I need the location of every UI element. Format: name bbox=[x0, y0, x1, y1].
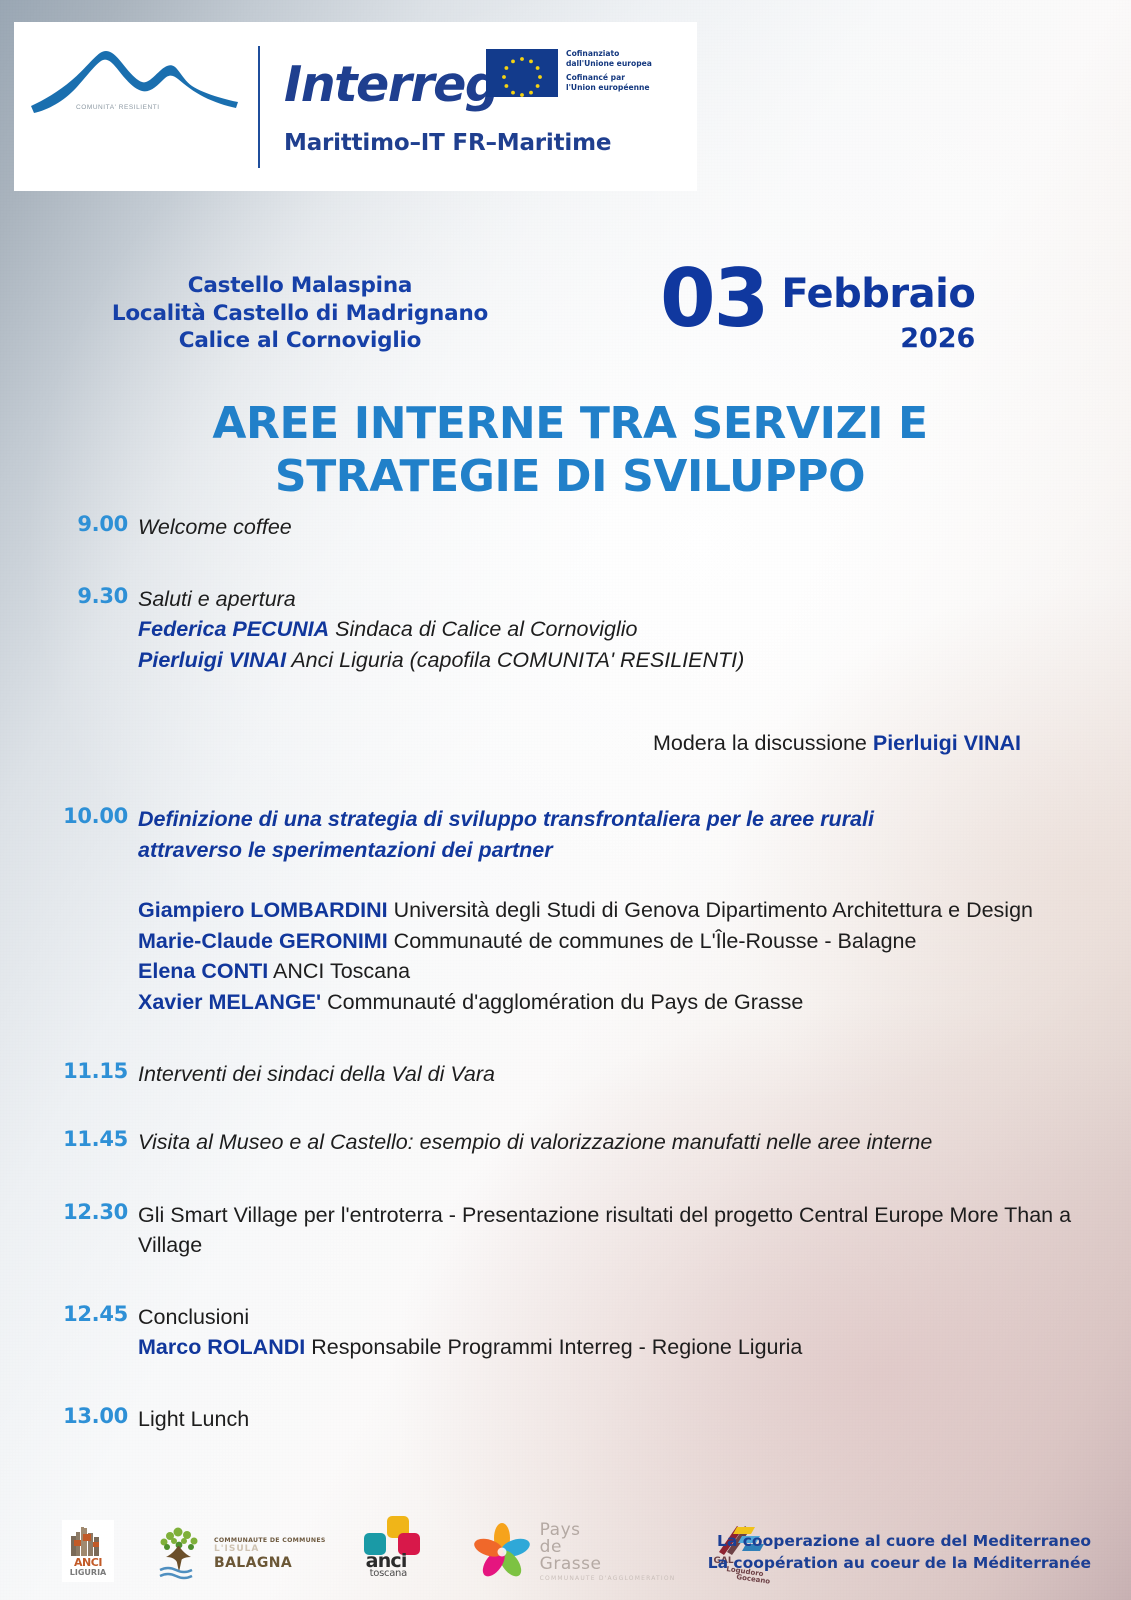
speaker-name: Giampiero LOMBARDINI bbox=[138, 898, 388, 922]
programme-logo-bar: COMUNITA' RESILIENTI Interreg bbox=[14, 22, 697, 191]
eu-cofunding-text: Cofinanziato dall'Unione europea Cofinan… bbox=[566, 49, 652, 93]
interreg-wordmark: Interreg bbox=[284, 56, 498, 113]
agenda-time: 10.00 bbox=[0, 804, 138, 828]
speaker-name: Elena CONTI bbox=[138, 959, 268, 983]
tagline-it: La cooperazione al cuore del Mediterrane… bbox=[708, 1530, 1091, 1552]
agenda-speaker: Marie-Claude GERONIMI Communauté de comm… bbox=[138, 926, 1073, 957]
venue-line-1: Castello Malaspina bbox=[0, 272, 600, 300]
speaker-role: Sindaca di Calice al Cornoviglio bbox=[335, 617, 637, 641]
agenda-row: 9.30 Saluti e apertura Federica PECUNIA … bbox=[0, 584, 1131, 675]
agenda-text: Saluti e apertura bbox=[138, 584, 1073, 614]
agenda-time: 13.00 bbox=[0, 1404, 138, 1428]
agenda-time: 11.15 bbox=[0, 1059, 138, 1083]
anci-liguria-label-sub: LIGURIA bbox=[62, 1568, 114, 1577]
agenda-row: 13.00 Light Lunch bbox=[0, 1404, 1131, 1434]
balagna-label-2: L'ISULA bbox=[214, 1545, 326, 1554]
grasse-label-4: COMMUNAUTE D'AGGLOMERATION bbox=[540, 1576, 676, 1582]
venue-block: Castello Malaspina Località Castello di … bbox=[0, 272, 600, 355]
anci-liguria-logo: ANCI LIGURIA bbox=[62, 1520, 114, 1582]
agenda-time: 12.30 bbox=[0, 1200, 138, 1224]
speaker-role: Responsabile Programmi Interreg - Region… bbox=[311, 1335, 802, 1359]
agenda-text: Light Lunch bbox=[138, 1404, 1131, 1434]
date-month: Febbraio bbox=[781, 274, 975, 314]
agenda-speaker: Marco ROLANDI Responsabile Programmi Int… bbox=[138, 1332, 1073, 1363]
agenda-text: Conclusioni bbox=[138, 1302, 1073, 1332]
agenda-row: 10.00 Definizione di una strategia di sv… bbox=[0, 804, 1131, 1017]
flower-icon bbox=[472, 1522, 532, 1582]
comunita-resilienti-caption: COMUNITA' RESILIENTI bbox=[76, 104, 160, 111]
anci-toscana-logo: anci toscana bbox=[362, 1516, 436, 1582]
date-year: 2026 bbox=[781, 323, 975, 354]
eu-text-it-2: dall'Unione europea bbox=[566, 59, 652, 69]
agenda-headline-line-1: Definizione di una strategia di sviluppo… bbox=[138, 804, 1073, 835]
agenda-list: 9.00 Welcome coffee 9.30 Saluti e apertu… bbox=[0, 512, 1131, 1434]
programme-subtitle: Marittimo–IT FR–Maritime bbox=[284, 130, 611, 156]
agenda-row: 9.00 Welcome coffee bbox=[0, 512, 1131, 542]
speaker-name: Marie-Claude GERONIMI bbox=[138, 929, 388, 953]
date-day: 03 bbox=[660, 262, 767, 336]
agenda-text: Gli Smart Village per l'entroterra - Pre… bbox=[138, 1200, 1131, 1260]
gal-label-3: Goceano bbox=[736, 1573, 771, 1586]
interreg-block: Interreg bbox=[284, 22, 697, 191]
speaker-name: Pierluigi VINAI bbox=[138, 648, 286, 672]
agenda-row: 12.45 Conclusioni Marco ROLANDI Responsa… bbox=[0, 1302, 1131, 1363]
agenda-speaker: Xavier MELANGE' Communauté d'agglomérati… bbox=[138, 987, 1073, 1018]
comunita-resilienti-logo: COMUNITA' RESILIENTI bbox=[14, 22, 258, 191]
speaker-role: ANCI Toscana bbox=[273, 959, 410, 983]
event-poster: COMUNITA' RESILIENTI Interreg bbox=[0, 0, 1131, 1600]
speaker-name: Xavier MELANGE' bbox=[138, 990, 321, 1014]
speaker-name: Marco ROLANDI bbox=[138, 1335, 305, 1359]
grasse-label-3: Grasse bbox=[540, 1556, 676, 1573]
agenda-speaker: Federica PECUNIA Sindaca di Calice al Co… bbox=[138, 614, 1073, 645]
balagna-label-3: BALAGNA bbox=[214, 1556, 326, 1571]
isula-balagna-logo: COMMUNAUTE DE COMMUNES L'ISULA BALAGNA bbox=[150, 1526, 326, 1582]
moderator-line: Modera la discussione Pierluigi VINAI bbox=[0, 731, 1131, 756]
agenda-headline-line-2: attraverso le sperimentazioni dei partne… bbox=[138, 835, 1073, 866]
anci-toscana-label-sub: toscana bbox=[370, 1568, 407, 1579]
agenda-time: 9.00 bbox=[0, 512, 138, 536]
moderator-prefix: Modera la discussione bbox=[653, 731, 873, 755]
castle-icon bbox=[69, 1526, 107, 1558]
agenda-time: 11.45 bbox=[0, 1127, 138, 1151]
agenda-speaker: Pierluigi VINAI Anci Liguria (capofila C… bbox=[138, 645, 1073, 676]
venue-line-2: Località Castello di Madrignano bbox=[0, 300, 600, 328]
agenda-row: 12.30 Gli Smart Village per l'entroterra… bbox=[0, 1200, 1131, 1260]
agenda-row: 11.15 Interventi dei sindaci della Val d… bbox=[0, 1059, 1131, 1089]
venue-line-3: Calice al Cornoviglio bbox=[0, 327, 600, 355]
tree-bird-icon bbox=[150, 1526, 208, 1582]
speaker-role: Anci Liguria (capofila COMUNITA' RESILIE… bbox=[291, 648, 744, 672]
speaker-role: Università degli Studi di Genova Diparti… bbox=[394, 898, 1033, 922]
eu-cofunding-emblem: Cofinanziato dall'Unione europea Cofinan… bbox=[486, 49, 652, 97]
agenda-text: Welcome coffee bbox=[138, 512, 1131, 542]
agenda-speaker: Elena CONTI ANCI Toscana bbox=[138, 956, 1073, 987]
eu-flag-icon bbox=[486, 49, 558, 97]
event-date: 03 Febbraio 2026 bbox=[660, 262, 1060, 354]
agenda-text: Interventi dei sindaci della Val di Vara bbox=[138, 1059, 1131, 1089]
agenda-time: 12.45 bbox=[0, 1302, 138, 1326]
agenda-text: Visita al Museo e al Castello: esempio d… bbox=[138, 1127, 1131, 1157]
speaker-role: Communauté de communes de L'Île-Rousse -… bbox=[394, 929, 917, 953]
page-title-line-2: STRATEGIE DI SVILUPPO bbox=[80, 451, 1060, 504]
tagline-fr: La coopération au coeur de la Méditerran… bbox=[708, 1552, 1091, 1574]
agenda-time: 9.30 bbox=[0, 584, 138, 608]
speaker-role: Communauté d'agglomération du Pays de Gr… bbox=[327, 990, 803, 1014]
eu-text-it-1: Cofinanziato bbox=[566, 49, 652, 59]
footer: ANCI LIGURIA bbox=[0, 1482, 1131, 1600]
agenda-row: 11.45 Visita al Museo e al Castello: ese… bbox=[0, 1127, 1131, 1157]
eu-text-fr-1: Cofinancé par bbox=[566, 73, 652, 83]
logo-divider bbox=[258, 46, 260, 168]
page-title-line-1: AREE INTERNE TRA SERVIZI E bbox=[80, 398, 1060, 451]
pays-de-grasse-logo: Pays de Grasse COMMUNAUTE D'AGGLOMERATIO… bbox=[472, 1522, 676, 1582]
agenda-speaker: Giampiero LOMBARDINI Università degli St… bbox=[138, 895, 1073, 926]
partner-logos: ANCI LIGURIA bbox=[62, 1516, 783, 1582]
page-title: AREE INTERNE TRA SERVIZI E STRATEGIE DI … bbox=[80, 398, 1060, 504]
eu-text-fr-2: l'Union européenne bbox=[566, 83, 652, 93]
speaker-name: Federica PECUNIA bbox=[138, 617, 329, 641]
moderator-name: Pierluigi VINAI bbox=[873, 731, 1021, 755]
cooperation-tagline: La cooperazione al cuore del Mediterrane… bbox=[708, 1530, 1091, 1574]
